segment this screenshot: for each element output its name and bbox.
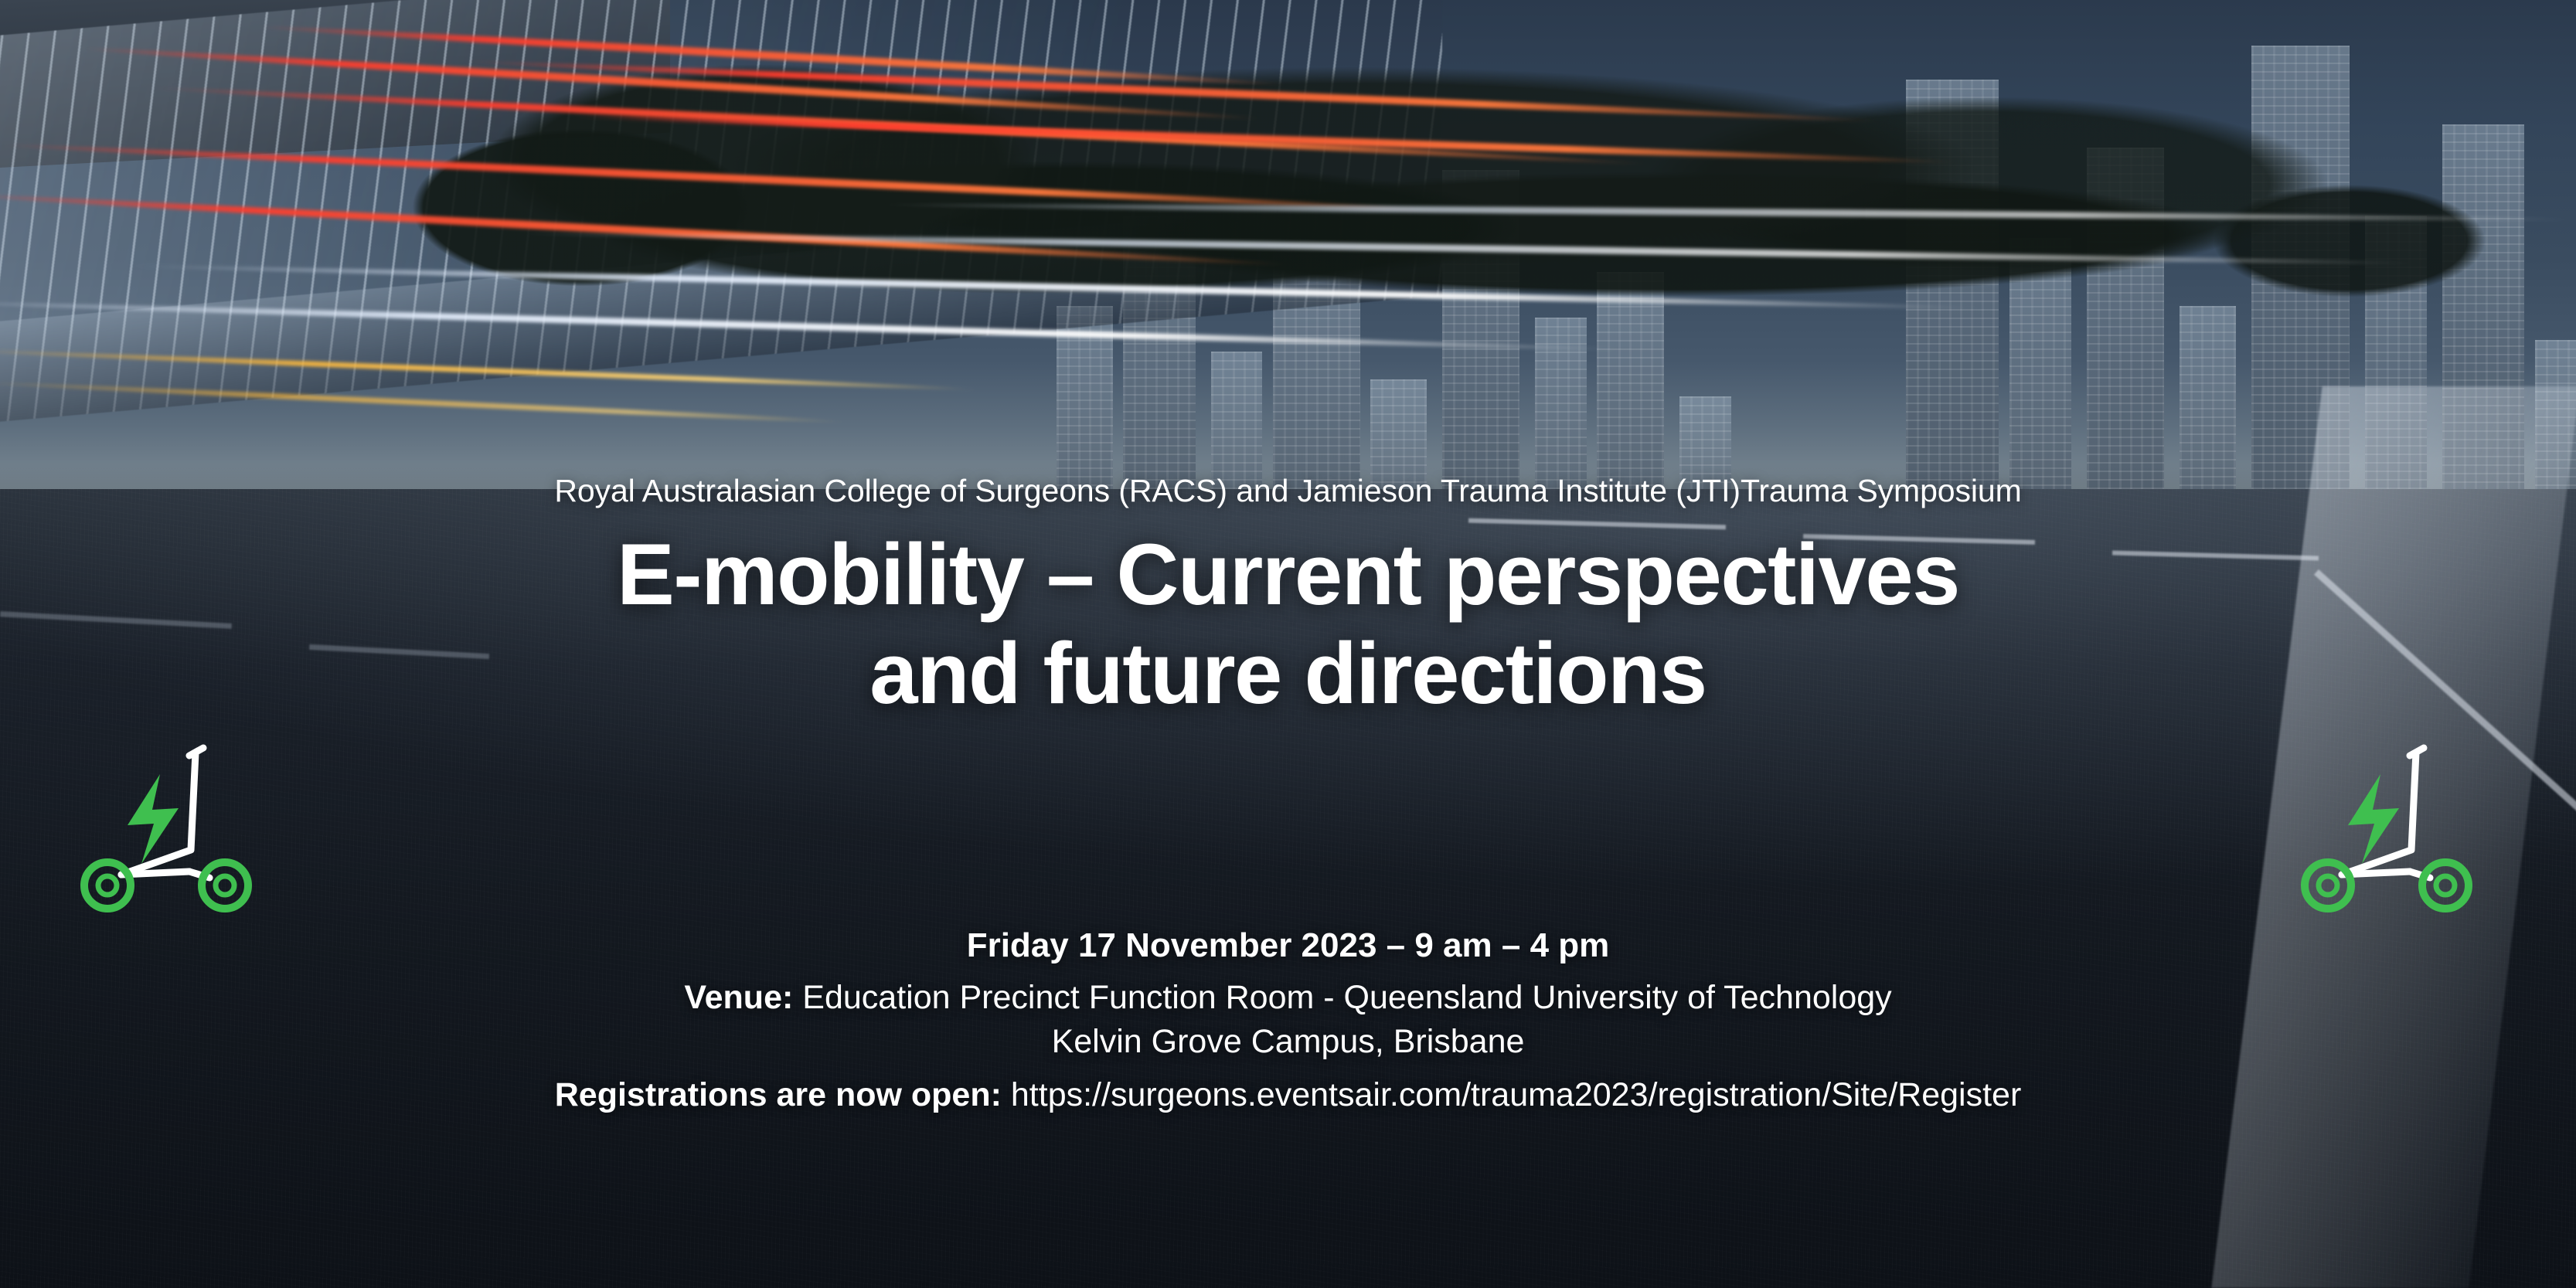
page-title: E-mobility – Current perspectives and fu…	[103, 532, 2472, 717]
event-organisers-line: Royal Australasian College of Surgeons (…	[554, 473, 2021, 509]
registration-line: Registrations are now open: https://surg…	[52, 1073, 2525, 1117]
venue-campus: Kelvin Grove Campus, Brisbane	[52, 1020, 2525, 1064]
venue-value: Education Precinct Function Room - Queen…	[802, 979, 1891, 1016]
headline-line-2: and future directions	[103, 630, 2472, 717]
event-banner: Royal Australasian College of Surgeons (…	[0, 0, 2576, 1288]
registration-url[interactable]: https://surgeons.eventsair.com/trauma202…	[1011, 1076, 2021, 1113]
venue-line: Venue: Education Precinct Function Room …	[52, 976, 2525, 1020]
event-details: Friday 17 November 2023 – 9 am – 4 pm Ve…	[52, 923, 2525, 1116]
registration-label: Registrations are now open:	[555, 1076, 1002, 1113]
venue-label: Venue:	[684, 979, 793, 1016]
event-date-time: Friday 17 November 2023 – 9 am – 4 pm	[52, 923, 2525, 968]
headline-line-1: E-mobility – Current perspectives	[617, 526, 1959, 623]
banner-text-block: Royal Australasian College of Surgeons (…	[0, 0, 2576, 1288]
